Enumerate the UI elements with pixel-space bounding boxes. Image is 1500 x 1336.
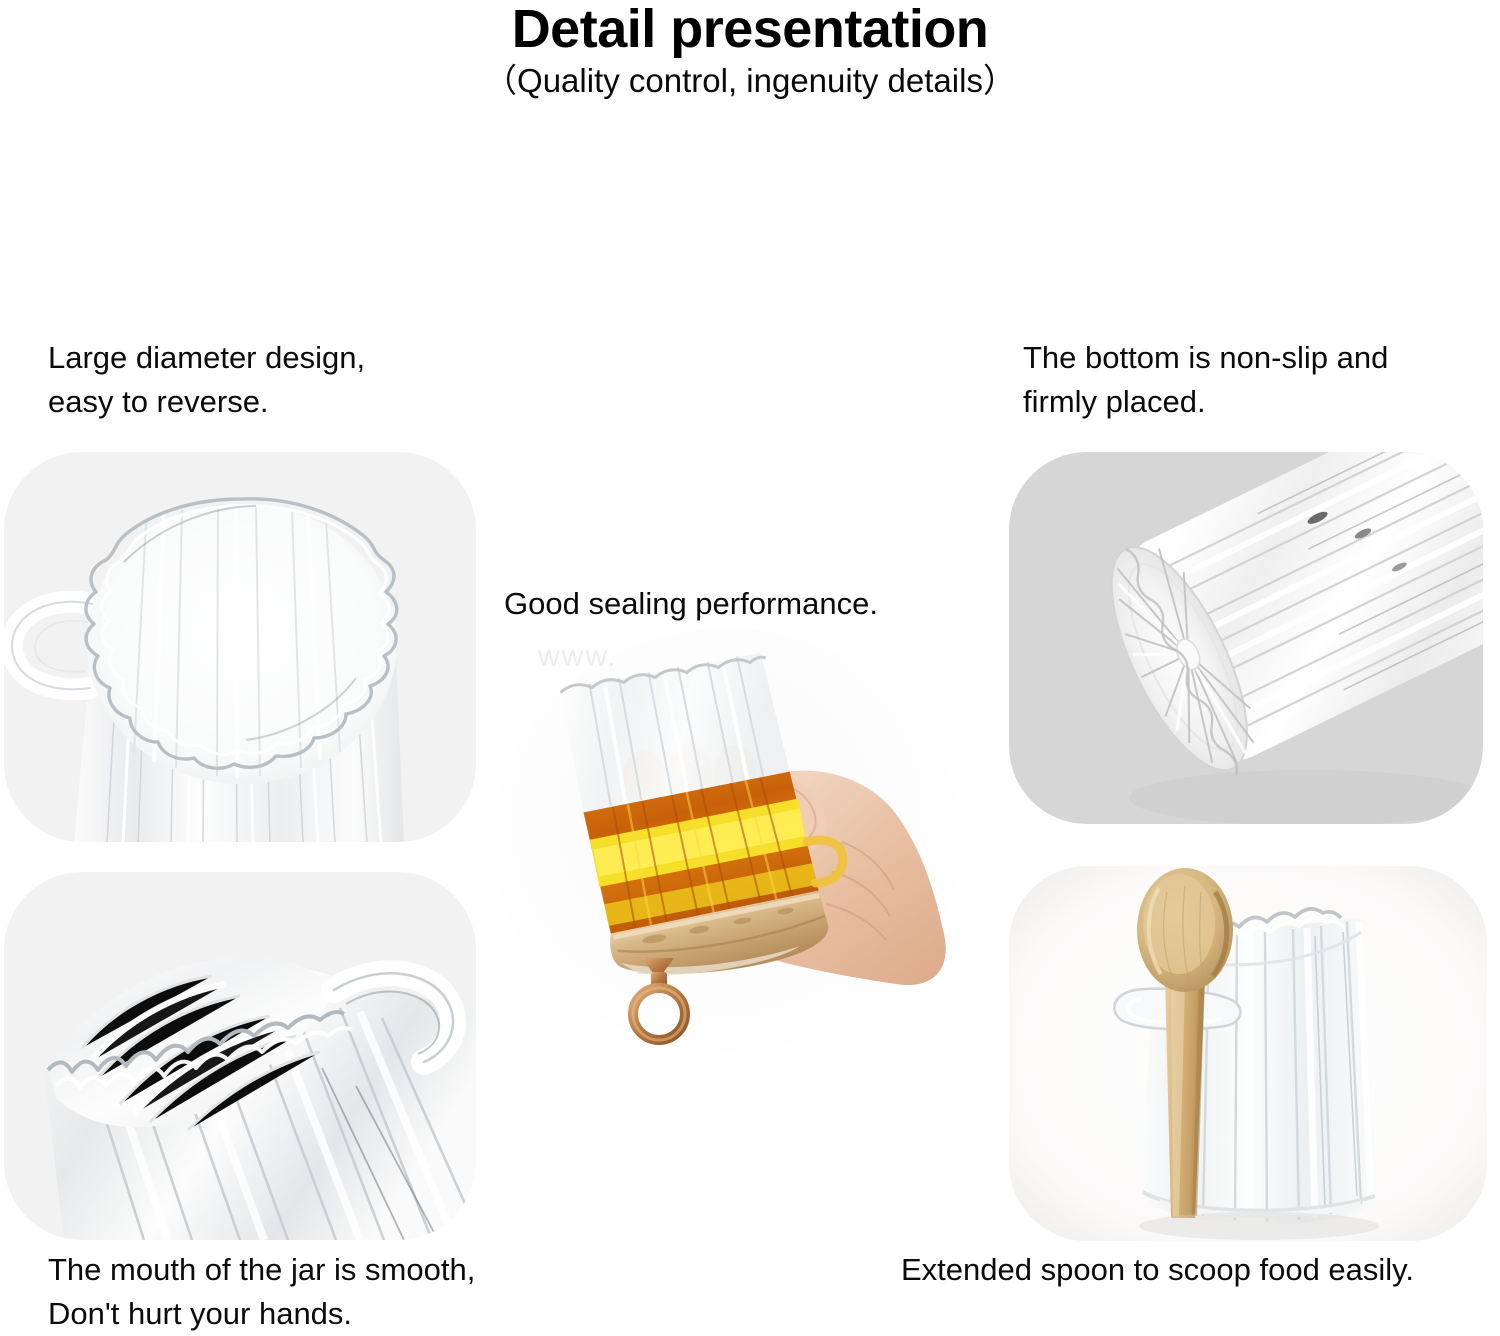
caption-smooth-mouth: The mouth of the jar is smooth, Don't hu… <box>48 1248 475 1336</box>
jar-mouth-closeup-illustration <box>4 872 476 1240</box>
jar-top-view-illustration <box>4 452 476 842</box>
page-title: Detail presentation <box>0 2 1500 57</box>
page-header: Detail presentation （Quality control, in… <box>0 0 1500 99</box>
caption-large-diameter: Large diameter design, easy to reverse. <box>48 336 365 424</box>
photo-panel-bottom-left <box>4 872 476 1240</box>
caption-good-sealing: Good sealing performance. <box>504 582 878 626</box>
photo-panel-top-right <box>1009 452 1483 824</box>
jar-with-spoon-illustration <box>1009 866 1487 1241</box>
hand-holding-honey-jar-illustration <box>492 628 962 1053</box>
photo-panel-top-left <box>4 452 476 842</box>
page-subtitle: （Quality control, ingenuity details） <box>0 63 1500 99</box>
caption-extended-spoon: Extended spoon to scoop food easily. <box>901 1248 1414 1292</box>
photo-panel-center: www. <box>492 628 962 1053</box>
photo-panel-bottom-right <box>1009 866 1487 1241</box>
jar-base-illustration <box>1009 452 1483 824</box>
caption-non-slip-bottom: The bottom is non-slip and firmly placed… <box>1023 336 1388 424</box>
